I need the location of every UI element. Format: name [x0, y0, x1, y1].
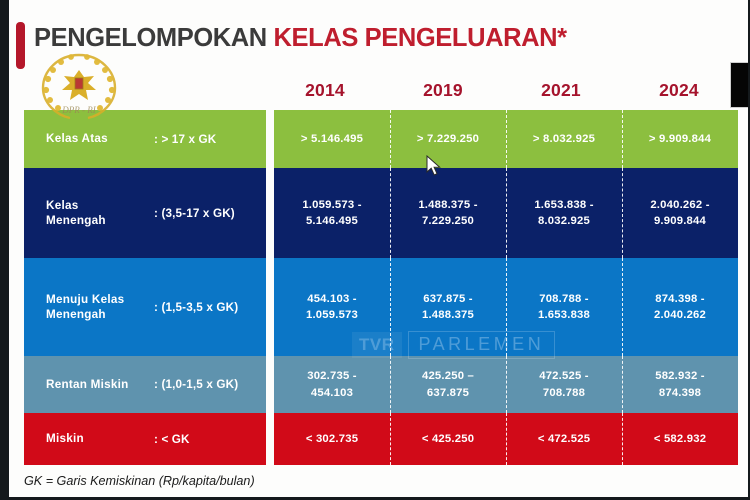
row-class-name-line2: Menengah — [46, 307, 154, 322]
cell-2024: 874.398 -2.040.262 — [622, 258, 738, 356]
cell-2021: 472.525 -708.788 — [506, 356, 622, 413]
row-label-cell: Rentan Miskin : (1,0-1,5 x GK) — [24, 356, 266, 413]
mouse-cursor — [426, 155, 443, 183]
cell-2014: 302.735 -454.103 — [274, 356, 390, 413]
row-data-cells: < 302.735 < 425.250 < 472.525 < 582.932 — [274, 413, 738, 465]
row-data-cells: > 5.146.495 > 7.229.250 > 8.032.925 > 9.… — [274, 110, 738, 168]
column-gap — [266, 110, 274, 168]
row-class-name: Miskin — [46, 431, 154, 446]
dpr-ri-emblem-icon: DPR - RI — [30, 46, 128, 124]
watermark-logo-mark: TVR — [352, 332, 402, 358]
broadcaster-watermark: TVR PARLEMEN — [352, 331, 555, 359]
page-title: PENGELOMPOKAN KELAS PENGELUARAN* — [34, 24, 567, 53]
title-part-highlight: KELAS PENGELUARAN* — [274, 24, 567, 52]
cell-2021: < 472.525 — [506, 413, 622, 465]
year-header-2014: 2014 — [266, 80, 384, 106]
cell-2021: > 8.032.925 — [506, 110, 622, 168]
row-class-name: Menuju Kelas Menengah — [46, 292, 154, 323]
cell-2021: 1.653.838 -8.032.925 — [506, 168, 622, 258]
expenditure-class-table: Kelas Atas : > 17 x GK > 5.146.495 > 7.2… — [24, 110, 738, 465]
row-criteria: : > 17 x GK — [154, 133, 216, 146]
year-header-2019: 2019 — [384, 80, 502, 106]
column-gap — [266, 168, 274, 258]
title-part-primary: PENGELOMPOKAN — [34, 24, 274, 52]
row-label-cell: Kelas Menengah : (3,5-17 x GK) — [24, 168, 266, 258]
row-class-name-line1: Kelas Atas — [46, 131, 154, 146]
svg-text:DPR - RI: DPR - RI — [61, 105, 96, 115]
row-data-cells: 1.059.573 -5.146.495 1.488.375 -7.229.25… — [274, 168, 738, 258]
table-row: Miskin : < GK < 302.735 < 425.250 < 472.… — [24, 413, 738, 465]
cell-2019: > 7.229.250 — [390, 110, 506, 168]
row-criteria: : (1,0-1,5 x GK) — [154, 378, 238, 391]
row-label-cell: Menuju Kelas Menengah : (1,5-3,5 x GK) — [24, 258, 266, 356]
cell-2024: < 582.932 — [622, 413, 738, 465]
cell-2024: 582.932 -874.398 — [622, 356, 738, 413]
row-class-name: Kelas Menengah — [46, 198, 154, 229]
table-row: Kelas Atas : > 17 x GK > 5.146.495 > 7.2… — [24, 110, 738, 168]
row-class-name-line1: Miskin — [46, 431, 154, 446]
row-criteria: : (3,5-17 x GK) — [154, 207, 235, 220]
year-header-2021: 2021 — [502, 80, 620, 106]
row-class-name-line1: Menuju Kelas — [46, 292, 154, 307]
table-row: Kelas Menengah : (3,5-17 x GK) 1.059.573… — [24, 168, 738, 258]
cell-2019: < 425.250 — [390, 413, 506, 465]
row-criteria: : (1,5-3,5 x GK) — [154, 301, 238, 314]
cell-2019: 425.250 –637.875 — [390, 356, 506, 413]
row-class-name: Kelas Atas — [46, 131, 154, 146]
column-gap — [266, 356, 274, 413]
row-data-cells: 302.735 -454.103 425.250 –637.875 472.52… — [274, 356, 738, 413]
cell-2024: 2.040.262 -9.909.844 — [622, 168, 738, 258]
row-class-name-line1: Rentan Miskin — [46, 377, 154, 392]
presentation-slide: PENGELOMPOKAN KELAS PENGELUARAN* D — [0, 0, 750, 500]
row-class-name-line2: Menengah — [46, 213, 154, 228]
year-header-row: 2014 2019 2021 2024 — [266, 80, 738, 106]
cell-2014: > 5.146.495 — [274, 110, 390, 168]
column-gap — [266, 413, 274, 465]
row-label-cell: Miskin : < GK — [24, 413, 266, 465]
title-accent-bar — [16, 22, 25, 69]
row-criteria: : < GK — [154, 433, 190, 446]
cell-2019: 1.488.375 -7.229.250 — [390, 168, 506, 258]
year-header-2024: 2024 — [620, 80, 738, 106]
cell-2024: > 9.909.844 — [622, 110, 738, 168]
footnote-text: GK = Garis Kemiskinan (Rp/kapita/bulan) — [24, 474, 255, 488]
row-class-name-line1: Kelas — [46, 198, 154, 213]
table-row: Rentan Miskin : (1,0-1,5 x GK) 302.735 -… — [24, 356, 738, 413]
cell-2014: < 302.735 — [274, 413, 390, 465]
row-class-name: Rentan Miskin — [46, 377, 154, 392]
black-overlay-box — [730, 62, 750, 108]
frame-edge-left — [0, 0, 9, 500]
watermark-channel-name: PARLEMEN — [408, 331, 556, 359]
column-gap — [266, 258, 274, 356]
cell-2014: 1.059.573 -5.146.495 — [274, 168, 390, 258]
